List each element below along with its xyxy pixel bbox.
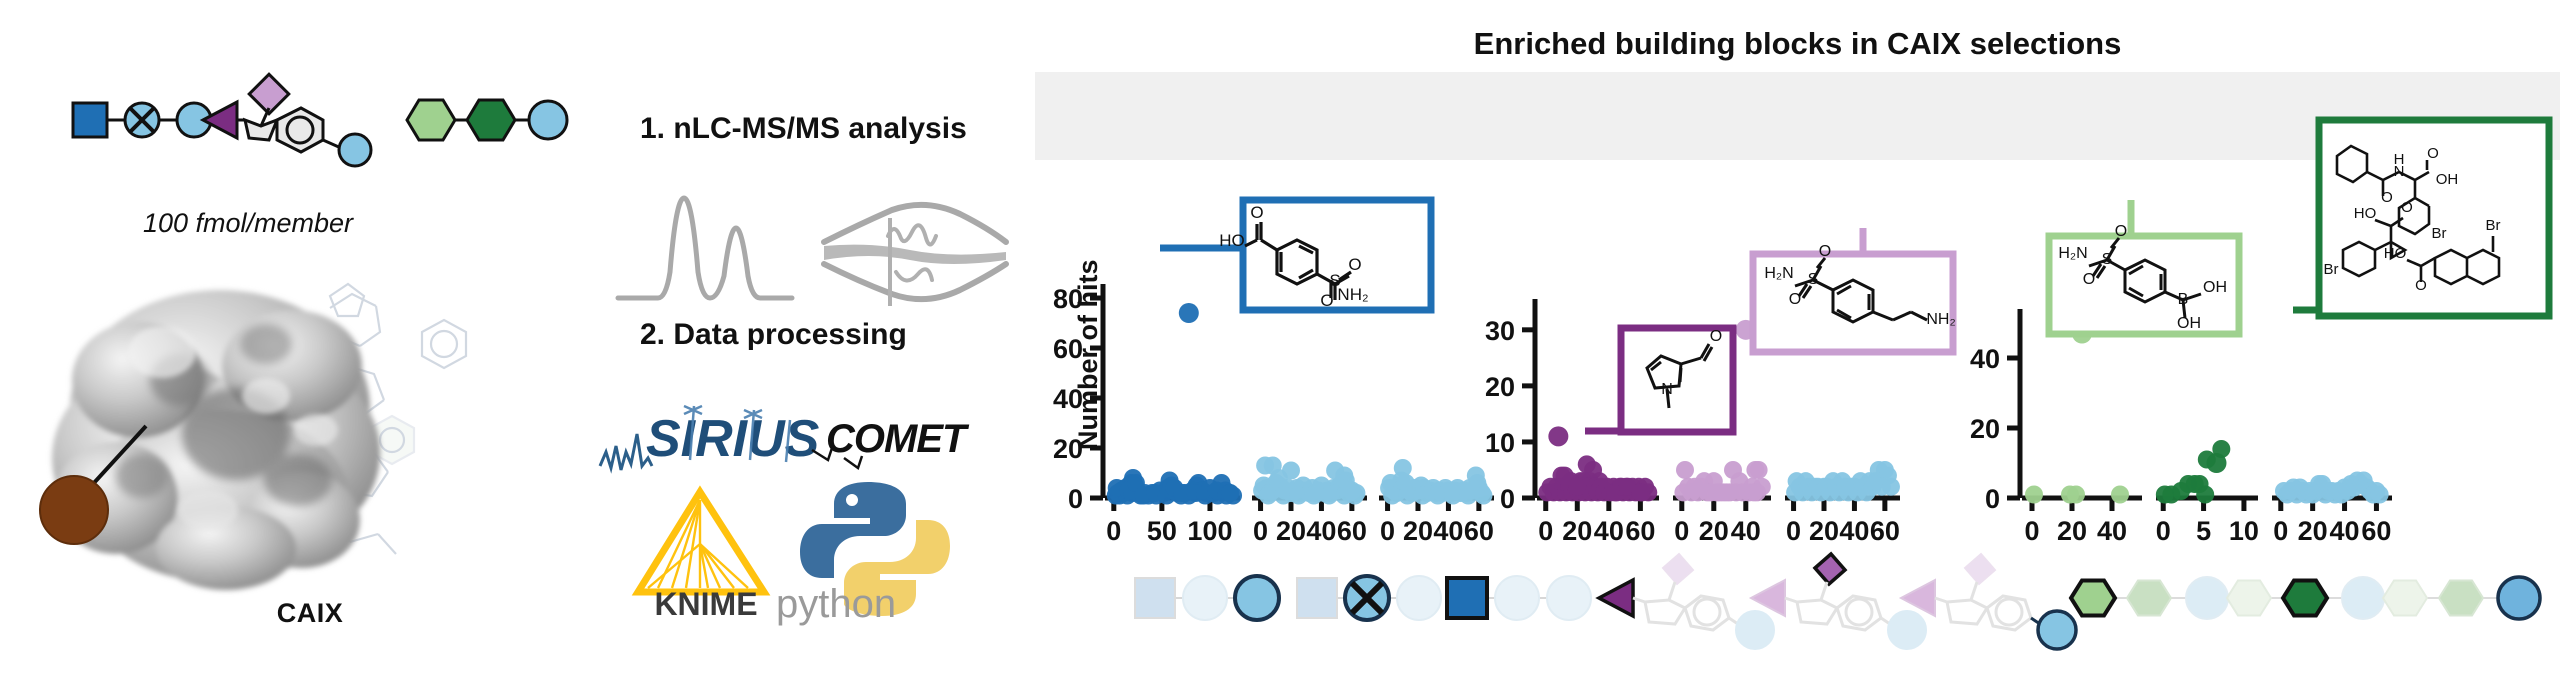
x-tick-label-sub-c3-20: 20 [2298,516,2328,546]
sub-a3: 0204060 [1379,459,1494,546]
x-tick-label-sub-b2-20: 20 [1699,516,1729,546]
atom-label: Br [2486,217,2501,234]
highlighted-data-point [2206,453,2226,473]
data-point [2067,486,2085,504]
sub-a1: 050100 [1105,303,1242,546]
workflow-step-1: 1. nLC-MS/MS analysis [640,112,967,146]
x-tick-label-sub-a2-60: 60 [1337,516,1367,546]
y-tick-label-3-0: 0 [1985,484,2000,514]
x-tick-label-sub-a1-50: 50 [1147,516,1177,546]
x-tick-label-sub-c3-60: 60 [2361,516,2391,546]
atom-label: O [1348,255,1361,274]
glyph-square [1297,578,1337,618]
data-point [1347,484,1365,502]
x-tick-label-sub-c2-0: 0 [2156,516,2171,546]
dna-encoded-library-schematic [55,78,615,158]
atom-label: O [2083,271,2095,288]
glyph-hexagon [2439,580,2483,615]
highlighted-data-point [1548,426,1568,446]
chart-group-3: 020400204005100204060 [1970,309,2392,546]
glyph-trio-a2 [1297,576,1441,620]
glyph-circle [1888,611,1926,649]
data-point [1750,461,1768,479]
x-tick-label-sub-b1-60: 60 [1625,516,1655,546]
callout-sulfamoylbenzoic-acid: HOOOONH₂S [1160,200,1431,310]
atom-label: O [2427,145,2439,162]
glyph-trio-c3 [2383,577,2540,619]
glyph-circle [2038,611,2076,649]
glyph-circle-terminal [339,134,371,166]
sirius-label: SIRIUS [646,410,820,468]
data-point [2156,486,2174,504]
data-point [1474,487,1492,505]
atom-label: HO [2354,205,2377,222]
caix-protein-surface [30,248,590,628]
indane-five-ring [1645,600,1685,624]
atom-label: O [1710,328,1722,345]
y-tick-label-2-10: 10 [1485,428,1515,458]
python-label: python [776,582,896,627]
x-tick-label-sub-b3-20: 20 [1809,516,1839,546]
protein-name-label: CAIX [210,598,410,629]
library-concentration-label: 100 fmol/member [98,208,398,239]
glyph-hexagon [2283,580,2327,615]
glyph-hexagon-darkgreen [467,100,515,140]
atom-label: HO [2384,245,2407,262]
x-tick-label-sub-b1-40: 40 [1594,516,1624,546]
glyph-circle [2186,577,2228,619]
callout-sulfamoylphenylboronic-acid: H₂NSOOBOHOH [2049,200,2239,334]
bond [1669,582,1675,600]
data-point [2025,486,2043,504]
atom-label: Br [2324,261,2339,278]
glyph-circle [1397,576,1441,620]
glyph-indane-scaffold [203,74,371,166]
glyph-hexagon [2383,580,2427,615]
atom-label: S [2102,251,2113,268]
sub-a2: 0204060 [1252,457,1367,547]
glyph-trio-b1 [1599,554,1774,649]
x-tick-label-sub-b1-20: 20 [1562,516,1592,546]
atom-label: O [2381,189,2393,206]
glyph-hexagon [2071,580,2115,615]
y-tick-label-2-0: 0 [1500,484,1515,514]
bond [1633,598,1645,602]
x-tick-label-sub-c3-0: 0 [2273,516,2288,546]
glyph-circle [1547,576,1591,620]
glyph-square [1135,578,1175,618]
legend-glyph-layer [1135,554,2540,649]
atom-label: H₂N [2058,245,2087,262]
glyph-hexagon [2227,580,2271,615]
atom-label: N [1661,381,1673,398]
atom-label: H₂N [1764,265,1793,282]
glyph-trio-c2 [2227,577,2384,619]
x-tick-label-sub-a3-0: 0 [1380,516,1395,546]
x-tick-label-sub-c1-40: 40 [2097,516,2127,546]
highlighted-data-point [1179,303,1199,323]
x-tick-label-sub-c2-10: 10 [2229,516,2259,546]
sub-c1: 02040 [2022,324,2142,547]
glyph-diamond [1815,554,1845,584]
chart-group-1: 02040608005010002040600204060 [1053,284,1494,546]
atom-label: Br [2432,225,2447,242]
knime-logo: KNIME [628,480,788,620]
atom-label: O [1789,291,1801,308]
glyph-circle [1736,611,1774,649]
glyph-hexagon-group [407,100,567,140]
data-point [2111,486,2129,504]
glyph-circle [1235,576,1279,620]
data-point [1748,483,1766,501]
x-tick-label-sub-c1-0: 0 [2024,516,2039,546]
y-tick-label-2-20: 20 [1485,372,1515,402]
glyph-trio-b2 [1751,554,1926,649]
bond [1935,598,1947,602]
glyph-diamond-pink [249,74,289,114]
atom-label: S [1329,271,1340,290]
data-point [1882,478,1900,496]
scatter-charts-canvas: 0204060800501000204060020406001020300204… [1035,178,2560,698]
aromatic-circle [1996,599,2022,625]
x-tick-label-sub-a1-0: 0 [1106,516,1121,546]
glyph-trio-a1 [1135,576,1279,620]
ligand-sphere-brown [40,476,108,544]
indane-five-ring [1947,600,1987,624]
glyph-trio-c1 [2071,577,2228,619]
glyph-square-blue [73,103,107,137]
atom-label: O [2401,199,2413,216]
atom-label: NH₂ [1926,311,1955,328]
aromatic-circle [1846,599,1872,625]
x-tick-label-sub-c2-5: 5 [2196,516,2211,546]
atom-label: B [2178,291,2189,308]
callout-methylpyrrole-carbaldehyde: NO [1585,328,1733,432]
atom-label: O [1250,203,1263,222]
y-tick-label-2-30: 30 [1485,316,1515,346]
y-tick-label-3-20: 20 [1970,414,2000,444]
knime-label: KNIME [654,586,757,622]
callout-aminoethyl-benzenesulfonamide: H₂NSOONH₂ [1753,228,1956,352]
data-point [2371,486,2389,504]
atom-label: OH [2177,315,2201,332]
glyph-square [1447,578,1487,618]
data-point [2196,486,2214,504]
glyph-hexagon [2127,580,2171,615]
sirius-comet-logo: SIRIUS COMET [598,392,998,472]
x-tick-label-sub-a2-0: 0 [1253,516,1268,546]
glyph-circle [1495,576,1539,620]
x-tick-label-sub-a3-20: 20 [1403,516,1433,546]
data-point [2339,482,2357,500]
y-tick-label-1-0: 0 [1068,484,1083,514]
x-tick-label-sub-a1-100: 100 [1187,516,1232,546]
glyph-triangle-purple [203,102,237,138]
atom-label: NH₂ [1337,285,1368,304]
data-point [1568,478,1586,496]
atom-label: HO [1219,231,1245,250]
x-tick-label-sub-b1-0: 0 [1538,516,1553,546]
comet-label: COMET [826,417,970,461]
x-tick-label-sub-a2-20: 20 [1276,516,1306,546]
atom-label: O [1819,243,1831,260]
x-tick-label-sub-a3-40: 40 [1433,516,1463,546]
sub-c3: 0204060 [2272,472,2392,547]
bond [1821,582,1827,600]
atom-label: S [1808,271,1819,288]
library-and-target-panel: 100 fmol/member [0,0,640,698]
atom-label: N [2394,163,2405,180]
y-tick-label-3-40: 40 [1970,344,2000,374]
data-point [1676,461,1694,479]
x-tick-label-sub-b3-40: 40 [1839,516,1869,546]
x-tick-label-sub-b3-0: 0 [1786,516,1801,546]
glyph-hexagon-lightgreen [407,100,455,140]
x-tick-label-sub-c3-40: 40 [2330,516,2360,546]
aromatic-circle [1694,599,1720,625]
workflow-panel: 1. nLC-MS/MS analysis 2. Data processing… [600,0,1040,698]
glyph-circle-blue-end [529,101,567,139]
sub-b1: 0204060 [1537,426,1659,546]
glyph-diamond [1965,554,1995,584]
glyph-circle [2342,577,2384,619]
atom-label: OH [2436,171,2459,188]
enriched-building-blocks-panel: Enriched building blocks in CAIX selecti… [1035,0,2560,698]
indane-five-ring [1797,600,1837,624]
mass-spectrum-icon [824,205,1006,306]
atom-label: O [1320,291,1333,310]
glyph-diamond [1663,554,1693,584]
x-tick-label-sub-a2-40: 40 [1306,516,1336,546]
data-point [1221,484,1239,502]
chromatogram-icon [610,180,1010,310]
callout-green-trio: HNOOHBrOHOOBrHOOBr [2293,120,2549,316]
bond [1785,598,1797,602]
callout-layer: HOOOONH₂SNOH₂NSOONH₂H₂NSOOBOHOHHNOOHBrOH… [1160,120,2549,432]
sub-b3: 0204060 [1785,461,1900,546]
workflow-step-2: 2. Data processing [640,318,907,352]
atom-label: O [2415,277,2427,294]
glyph-circle [1183,576,1227,620]
glyph-triangle [1599,580,1633,616]
page-title: Enriched building blocks in CAIX selecti… [1035,0,2560,88]
x-tick-label-sub-b2-0: 0 [1674,516,1689,546]
x-tick-label-sub-b3-60: 60 [1870,516,1900,546]
figure-root: 100 fmol/member [0,0,2560,698]
bond [1971,582,1977,600]
x-tick-label-sub-a3-60: 60 [1464,516,1494,546]
data-point [1631,483,1649,501]
x-tick-label-sub-c1-20: 20 [2057,516,2087,546]
glyph-trio-b3 [1901,554,2076,649]
glyph-trio-a3 [1447,576,1591,620]
glyph-circle [2498,577,2540,619]
y-axis-label: Number of hits [1073,259,1104,450]
x-tick-label-sub-b2-40: 40 [1731,516,1761,546]
atom-label: O [2115,223,2127,240]
atom-label: OH [2203,279,2227,296]
sub-c2: 0510 [2156,440,2259,546]
